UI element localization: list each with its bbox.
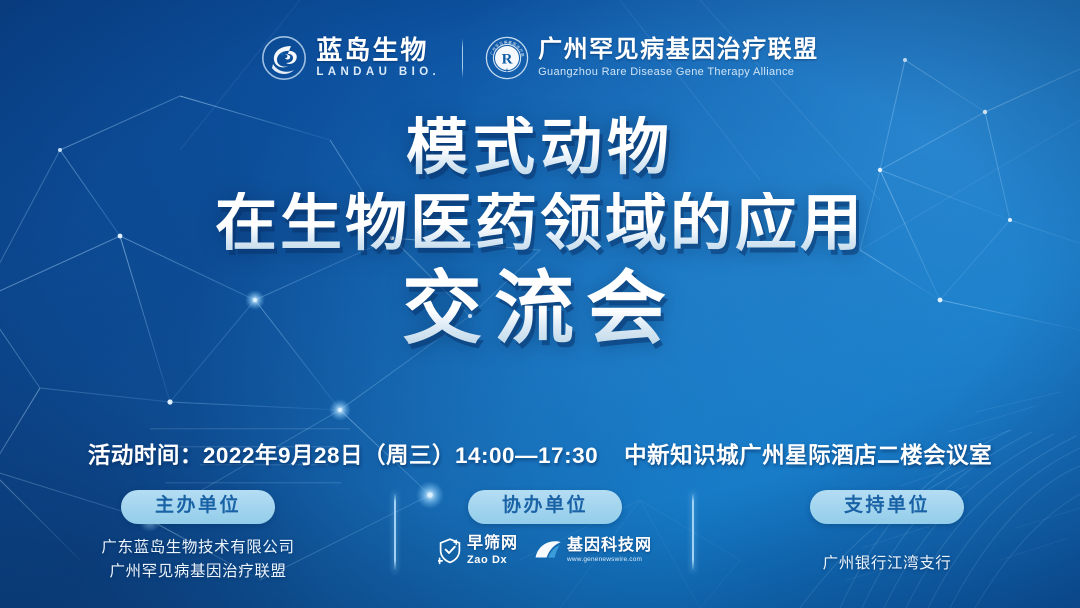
event-poster: 蓝岛生物 LANDAU BIO. R 广州罕见病基因治疗联盟 广州罕见病基因治疗…: [0, 0, 1080, 608]
zaodx-logo: 早筛网 Zao Dx: [438, 536, 518, 566]
alliance-logo-cn: 广州罕见病基因治疗联盟: [538, 38, 819, 62]
alliance-logo: R 广州罕见病基因治疗联盟 广州罕见病基因治疗联盟 Guangzhou Rare…: [485, 36, 819, 80]
header-divider: [462, 38, 463, 78]
landau-logo-cn: 蓝岛生物: [316, 37, 440, 63]
event-info-line: 活动时间：2022年9月28日（周三）14:00—17:30中新知识城广州星际酒…: [0, 438, 1080, 470]
main-title: 模式动物 在生物医药领域的应用 交流会: [0, 116, 1080, 350]
organizing-units: 主办单位 广东蓝岛生物技术有限公司 广州罕见病基因治疗联盟 协办单位: [0, 490, 1080, 590]
alliance-logo-en: Guangzhou Rare Disease Gene Therapy Alli…: [538, 67, 819, 78]
title-line-3: 交流会: [0, 267, 1080, 350]
shield-plus-icon: [438, 537, 462, 565]
unit-host-line-1: 广东蓝岛生物技术有限公司: [101, 536, 294, 560]
unit-host-badge: 主办单位: [121, 490, 275, 524]
event-date-time: 2022年9月28日（周三）14:00—17:30: [203, 443, 598, 468]
genenewswire-logo-en: www.genenewswire.com: [567, 557, 652, 564]
unit-support: 支持单位 广州银行江湾支行: [694, 490, 1080, 590]
unit-co-organizer: 协办单位 早筛网 Zao Dx: [396, 490, 694, 590]
title-line-2: 在生物医药领域的应用: [0, 192, 1080, 256]
unit-host: 主办单位 广东蓝岛生物技术有限公司 广州罕见病基因治疗联盟: [0, 490, 396, 590]
unit-support-badge: 支持单位: [810, 490, 964, 524]
landau-bio-logo: 蓝岛生物 LANDAU BIO.: [261, 35, 440, 81]
header-logos: 蓝岛生物 LANDAU BIO. R 广州罕见病基因治疗联盟 广州罕见病基因治疗…: [0, 26, 1080, 90]
event-venue: 中新知识城广州星际酒店二楼会议室: [624, 443, 992, 468]
unit-support-lines: 广州银行江湾支行: [823, 536, 952, 576]
svg-text:R: R: [502, 52, 513, 68]
unit-host-line-2: 广州罕见病基因治疗联盟: [101, 560, 294, 584]
landau-circle-bird-icon: [261, 35, 307, 81]
genenewswire-logo-cn: 基因科技网: [567, 538, 652, 554]
title-line-1: 模式动物: [0, 116, 1080, 180]
co-organizer-logos: 早筛网 Zao Dx 基因科技网 www.genenewswire.com: [438, 536, 652, 566]
unit-co-badge: 协办单位: [468, 490, 622, 524]
zaodx-logo-cn: 早筛网: [467, 536, 518, 552]
unit-support-line-1: 广州银行江湾支行: [823, 552, 952, 576]
genenewswire-logo: 基因科技网 www.genenewswire.com: [534, 538, 652, 564]
alliance-seal-r-icon: R 广州罕见病基因治疗联盟: [485, 36, 529, 80]
unit-host-lines: 广东蓝岛生物技术有限公司 广州罕见病基因治疗联盟: [101, 536, 294, 584]
wave-drop-icon: [534, 538, 562, 564]
event-time-label: 活动时间：: [88, 443, 203, 468]
landau-logo-en: LANDAU BIO.: [316, 67, 440, 79]
zaodx-logo-en: Zao Dx: [467, 555, 518, 566]
